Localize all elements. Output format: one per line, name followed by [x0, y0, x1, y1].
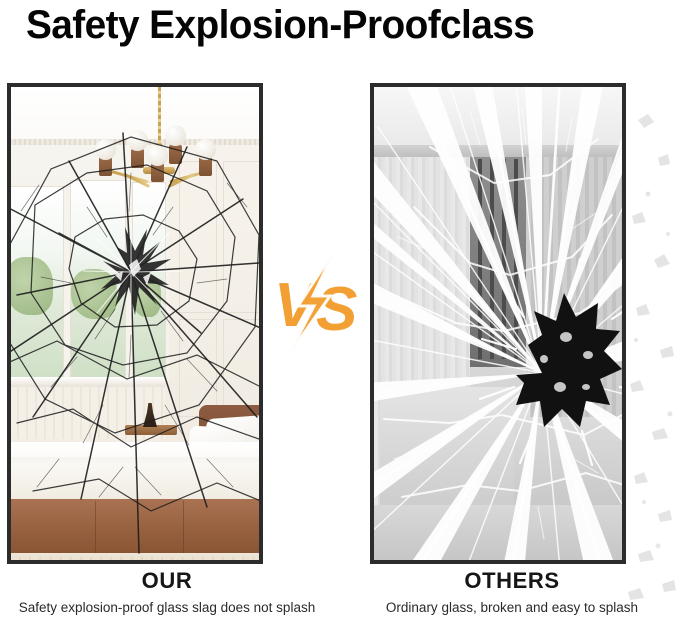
caption-subtitle-others: Ordinary glass, broken and easy to splas…	[342, 599, 679, 616]
area-rug	[11, 557, 259, 560]
window-sill	[11, 377, 165, 387]
our-scene	[11, 87, 259, 560]
chandelier-bulb	[95, 139, 116, 160]
furniture-block	[380, 387, 530, 507]
bed-base-seam	[183, 501, 184, 557]
bed-base	[11, 499, 259, 559]
vs-badge: V S	[272, 250, 364, 354]
wall-panel-moulding	[179, 161, 217, 313]
vs-logo: V S	[272, 250, 364, 354]
dark-wall-slit	[478, 159, 482, 359]
outdoor-foliage	[131, 273, 161, 317]
ceiling	[374, 87, 622, 149]
floor	[374, 505, 622, 560]
chandelier-bulb	[195, 139, 216, 160]
splashed-glass-fragments	[624, 84, 679, 624]
dark-wall-slit	[502, 159, 506, 359]
wall-panel-moulding	[179, 319, 217, 417]
bed-base-seam	[95, 501, 96, 557]
chandelier-bulb	[147, 145, 168, 166]
chandelier-bulb	[127, 130, 148, 151]
chandelier-bulb	[165, 125, 186, 146]
chandelier-chain	[158, 87, 161, 143]
caption-title-others: OTHERS	[342, 568, 679, 594]
caption-our: OUR Safety explosion-proof glass slag do…	[0, 568, 337, 616]
dark-wall-slit	[490, 159, 494, 359]
comparison-infographic: Safety Explosion-Proofclass	[0, 0, 679, 643]
chandelier-socket	[169, 145, 182, 164]
ceiling-beam	[374, 145, 622, 157]
duvet	[11, 457, 259, 499]
outdoor-foliage	[11, 257, 53, 315]
dark-wall-slit	[514, 159, 518, 359]
wall-panel-moulding	[223, 319, 259, 417]
panel-others	[370, 83, 626, 564]
caption-subtitle-our: Safety explosion-proof glass slag does n…	[0, 599, 337, 616]
chandelier-socket	[131, 149, 144, 168]
outdoor-foliage	[71, 269, 117, 319]
panel-our	[7, 83, 263, 564]
caption-others: OTHERS Ordinary glass, broken and easy t…	[342, 568, 679, 616]
others-scene	[374, 87, 622, 560]
page-title: Safety Explosion-Proofclass	[26, 2, 534, 48]
caption-title-our: OUR	[0, 568, 337, 594]
wall-panel-moulding	[223, 161, 259, 313]
